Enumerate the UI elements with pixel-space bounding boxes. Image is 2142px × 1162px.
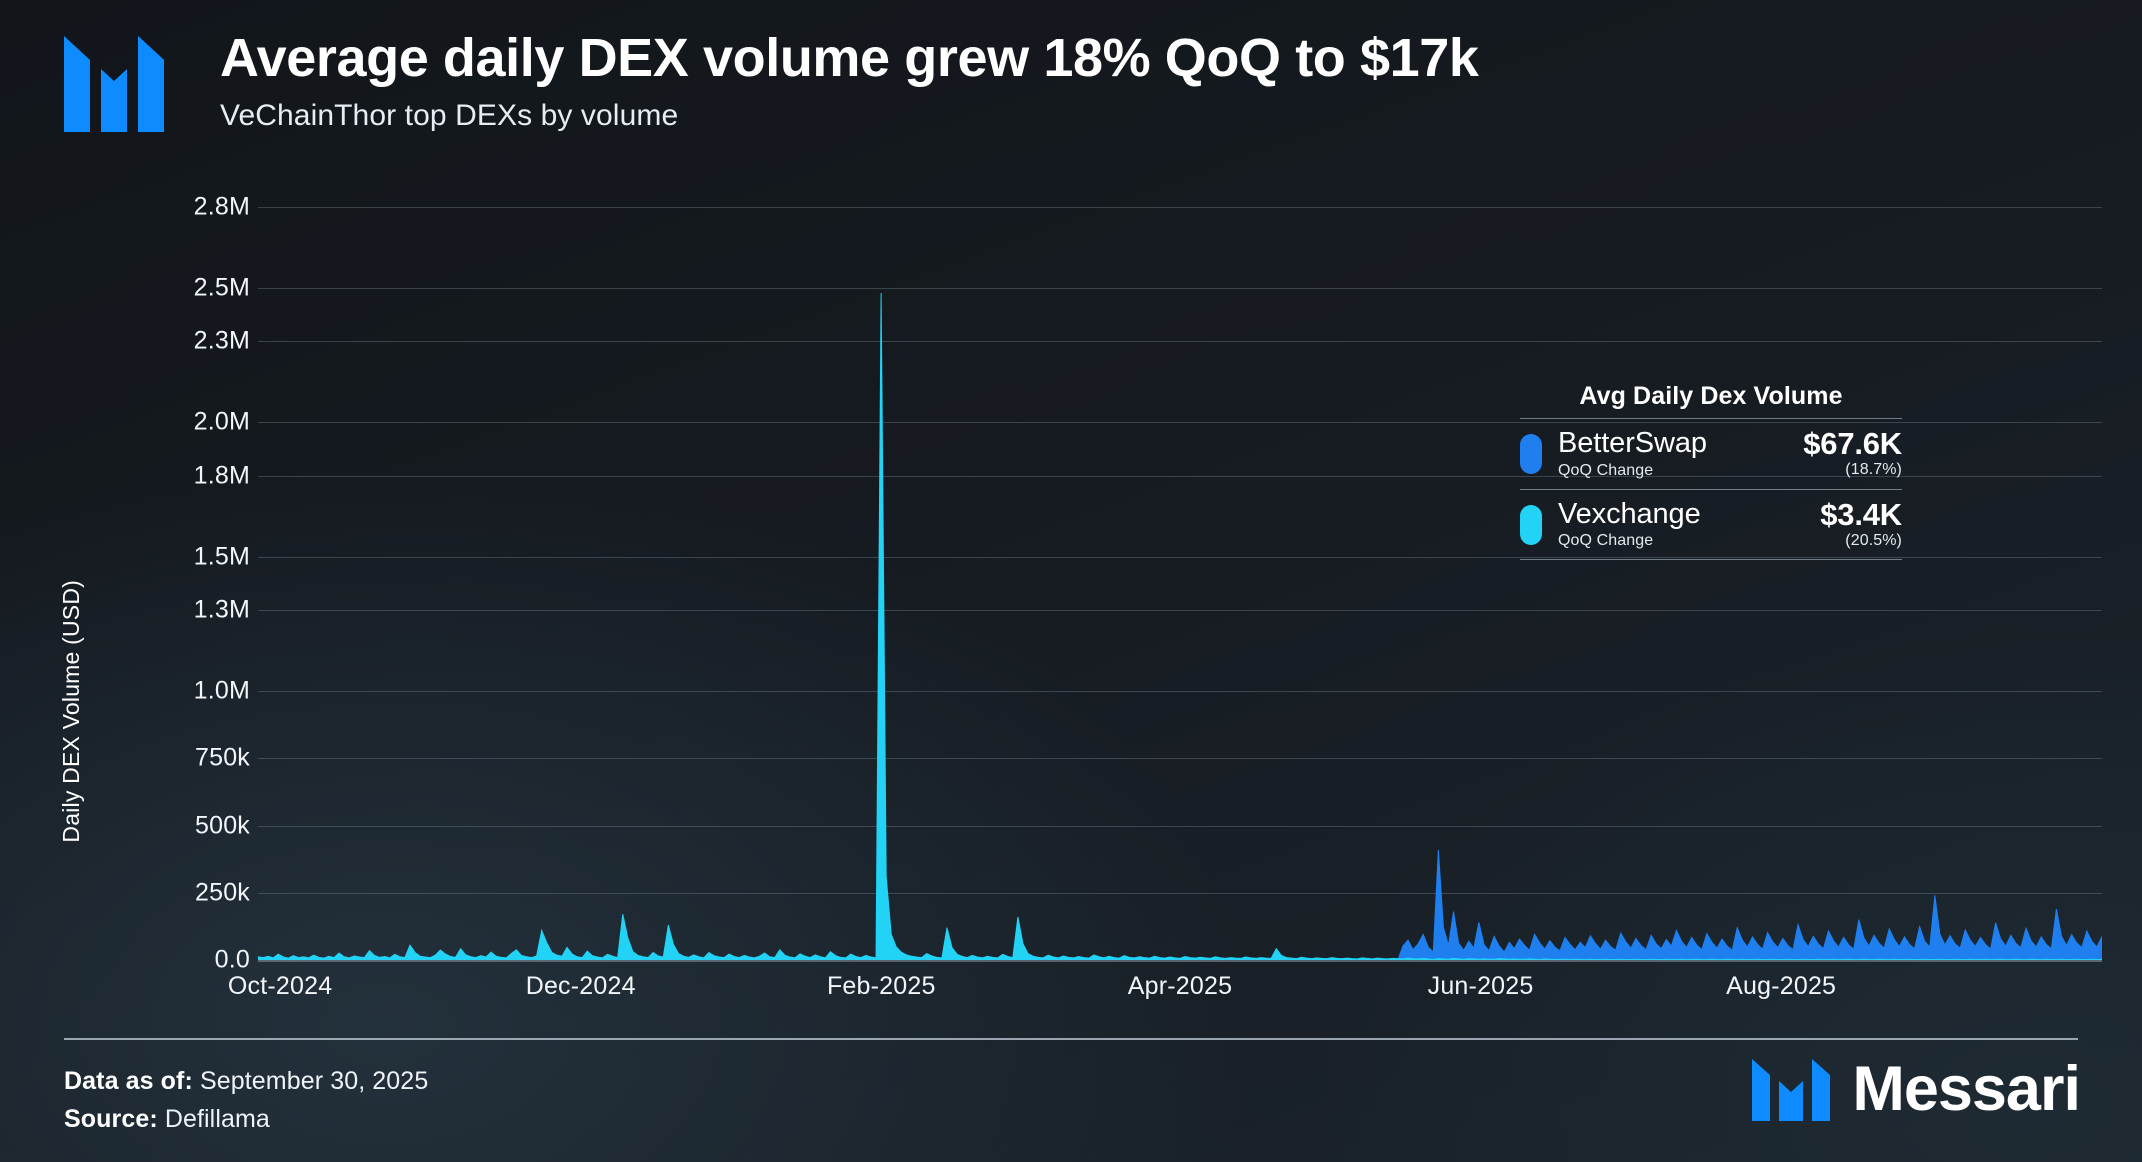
legend-series-name: Vexchange [1558,498,1701,530]
y-axis-tick-label: 250k [110,878,250,907]
x-axis-tick-label: Aug-2025 [1726,972,1836,1001]
brand-name: Messari [1852,1058,2080,1121]
legend-row-betterswap[interactable]: BetterSwap QoQ Change $67.6K (18.7%) [1520,418,1902,489]
y-axis-tick-label: 1.5M [110,542,250,571]
legend-title: Avg Daily Dex Volume [1520,382,1902,418]
x-axis-tick-label: Dec-2024 [526,972,636,1001]
chart-page: Average daily DEX volume grew 18% QoQ to… [0,0,2142,1162]
brand: Messari [1752,1058,2080,1121]
data-as-of-label: Data as of: [64,1067,193,1095]
messari-logo-icon [1752,1059,1830,1121]
y-axis-tick-label: 500k [110,811,250,840]
legend-qoq-label: QoQ Change [1558,532,1820,550]
legend-swatch-icon [1520,434,1542,474]
page-title: Average daily DEX volume grew 18% QoQ to… [220,30,1479,87]
footer-meta: Data as of: September 30, 2025 Source: D… [64,1062,428,1138]
y-axis-tick-label: 2.5M [110,273,250,302]
x-axis-tick-label: Jun-2025 [1428,972,1534,1001]
footer-divider [64,1038,2078,1040]
legend-qoq-label: QoQ Change [1558,462,1803,480]
y-axis-ticks: 2.8M2.5M2.3M2.0M1.8M1.5M1.3M1.0M750k500k… [50,180,250,960]
y-axis-tick-label: 2.8M [110,192,250,221]
legend-qoq-pct: (18.7%) [1845,461,1902,478]
legend-qoq-pct: (20.5%) [1845,532,1902,549]
x-axis-tick-label: Oct-2024 [228,972,332,1001]
y-axis-tick-label: 1.8M [110,461,250,490]
x-axis-ticks: Oct-2024Dec-2024Feb-2025Apr-2025Jun-2025… [258,972,2102,1012]
axis-baseline [258,960,2102,962]
legend-swatch-icon [1520,505,1542,545]
header: Average daily DEX volume grew 18% QoQ to… [64,30,1479,133]
y-axis-tick-label: 0.0 [110,946,250,975]
legend-series-value: $67.6K [1803,428,1902,461]
plot-area [258,180,2102,960]
series-area-betterswap [258,850,2102,960]
legend: Avg Daily Dex Volume BetterSwap QoQ Chan… [1520,382,1902,560]
page-subtitle: VeChainThor top DEXs by volume [220,99,1479,133]
source-label: Source: [64,1105,158,1133]
chart: Daily DEX Volume (USD) 2.8M2.5M2.3M2.0M1… [0,180,2142,1000]
x-axis-tick-label: Apr-2025 [1128,972,1232,1001]
data-as-of-value: September 30, 2025 [200,1067,428,1095]
legend-series-name: BetterSwap [1558,427,1707,459]
x-axis-tick-label: Feb-2025 [827,972,936,1001]
legend-divider [1520,559,1902,560]
y-axis-tick-label: 2.0M [110,408,250,437]
source-value: Defillama [165,1105,270,1133]
legend-row-vexchange[interactable]: Vexchange QoQ Change $3.4K (20.5%) [1520,489,1902,560]
legend-series-value: $3.4K [1820,499,1902,532]
messari-logo-icon [64,36,164,132]
y-axis-tick-label: 1.3M [110,596,250,625]
y-axis-tick-label: 1.0M [110,677,250,706]
y-axis-tick-label: 2.3M [110,327,250,356]
series-paths [258,180,2102,960]
y-axis-tick-label: 750k [110,744,250,773]
